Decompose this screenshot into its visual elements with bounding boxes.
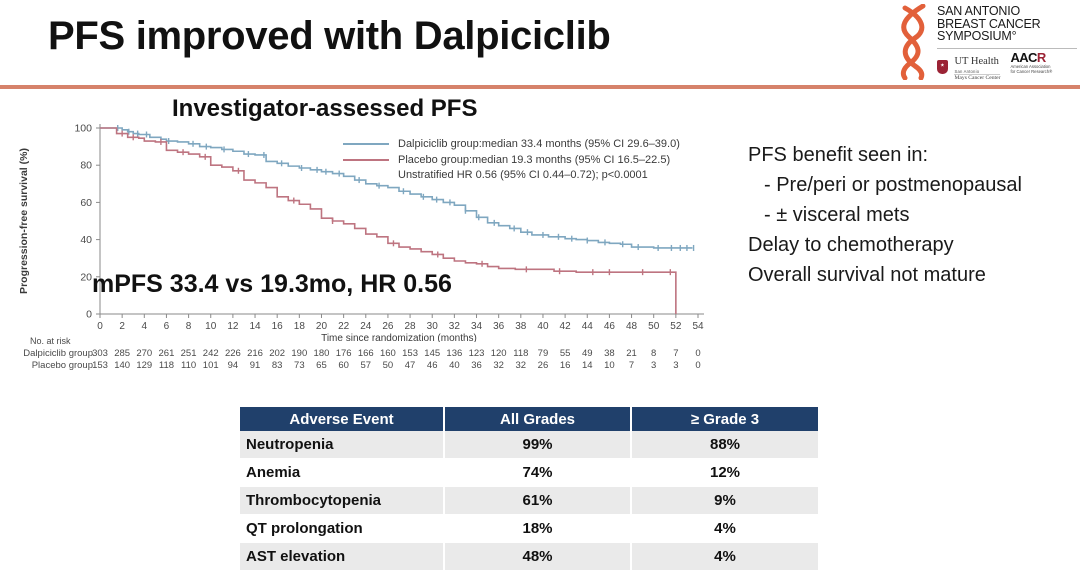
cell-grade3: 9% [631, 487, 818, 515]
risk-value: 216 [247, 348, 263, 359]
risk-value: 129 [136, 360, 152, 371]
risk-value: 60 [338, 360, 349, 371]
risk-row-label: Dalpiciclib group [0, 348, 93, 359]
risk-value: 3 [673, 360, 678, 371]
cell-grade3: 4% [631, 543, 818, 571]
finding-item-1: - Pre/peri or postmenopausal [748, 170, 1080, 200]
risk-value: 261 [159, 348, 175, 359]
cell-event-name: Thrombocytopenia [240, 487, 444, 515]
risk-value: 7 [673, 348, 678, 359]
column-header-all-grades: All Grades [444, 407, 631, 431]
x-tick-label: 54 [692, 321, 704, 332]
cell-all-grades: 61% [444, 487, 631, 515]
x-tick-label: 48 [626, 321, 638, 332]
table-row: QT prolongation18%4% [240, 515, 818, 543]
risk-value: 21 [626, 348, 637, 359]
cell-all-grades: 48% [444, 543, 631, 571]
y-tick-label: 0 [86, 309, 92, 321]
sabcs-logo: SAN ANTONIO BREAST CANCER SYMPOSIUM° UT … [893, 2, 1075, 84]
risk-value: 101 [203, 360, 219, 371]
table-row: Thrombocytopenia61%9% [240, 487, 818, 515]
risk-row: Dalpiciclib group30328527026125124222621… [0, 348, 720, 360]
x-tick-label: 26 [382, 321, 394, 332]
x-tick-label: 34 [471, 321, 483, 332]
risk-value: 83 [272, 360, 283, 371]
aacr-label: AAC [1010, 50, 1036, 65]
ut-health-logo: UT Health San Antonio Mays Cancer Center [937, 51, 1000, 87]
finding-item-2: - ± visceral mets [748, 200, 1080, 230]
partner-logos: UT Health San Antonio Mays Cancer Center… [937, 48, 1077, 87]
x-tick-label: 20 [316, 321, 328, 332]
hazard-ratio-note: Unstratified HR 0.56 (95% CI 0.44–0.72);… [343, 169, 723, 181]
column-header-grade-3: ≥ Grade 3 [631, 407, 818, 431]
risk-value: 47 [405, 360, 416, 371]
cell-all-grades: 74% [444, 459, 631, 487]
risk-value: 50 [383, 360, 394, 371]
risk-value: 65 [316, 360, 327, 371]
aacr-r-letter: R [1037, 50, 1046, 65]
x-tick-label: 32 [449, 321, 461, 332]
risk-value: 118 [513, 348, 528, 359]
x-tick-label: 4 [142, 321, 148, 332]
slide-header: PFS improved with Dalpiciclib SAN ANTONI… [0, 0, 1080, 88]
cell-grade3: 4% [631, 515, 818, 543]
logo-line-1: SAN ANTONIO [937, 5, 1077, 18]
risk-value: 46 [427, 360, 438, 371]
risk-value: 7 [629, 360, 634, 371]
risk-value: 91 [250, 360, 261, 371]
y-tick-label: 60 [80, 197, 92, 209]
risk-value: 49 [582, 348, 593, 359]
legend-item-placebo: Placebo group:median 19.3 months (95% CI… [343, 152, 723, 168]
x-tick-label: 18 [294, 321, 306, 332]
x-tick-label: 6 [164, 321, 170, 332]
x-tick-label: 38 [515, 321, 527, 332]
cell-all-grades: 18% [444, 515, 631, 543]
x-tick-label: 30 [427, 321, 439, 332]
risk-value: 40 [449, 360, 460, 371]
legend-item-dalpiciclib: Dalpiciclib group:median 33.4 months (95… [343, 136, 723, 152]
risk-value: 16 [560, 360, 571, 371]
x-tick-label: 12 [227, 321, 239, 332]
x-axis-title: Time since randomization (months) [321, 333, 477, 342]
ribbon-icon [893, 4, 935, 80]
table-row: Neutropenia99%88% [240, 431, 818, 459]
risk-value: 14 [582, 360, 593, 371]
risk-value: 123 [469, 348, 485, 359]
risk-row-values: 1531401291181101019491837365605750474640… [93, 360, 713, 372]
y-tick-label: 20 [80, 271, 92, 283]
risk-value: 118 [159, 360, 174, 371]
x-tick-label: 24 [360, 321, 372, 332]
numbers-at-risk-title: No. at risk [30, 336, 71, 346]
risk-value: 166 [358, 348, 374, 359]
x-tick-label: 42 [560, 321, 572, 332]
risk-value: 55 [560, 348, 571, 359]
x-tick-label: 44 [582, 321, 594, 332]
logo-line-3: SYMPOSIUM° [937, 30, 1077, 43]
y-tick-label: 40 [80, 234, 92, 246]
risk-value: 38 [604, 348, 615, 359]
x-tick-label: 36 [493, 321, 505, 332]
risk-value: 180 [314, 348, 330, 359]
shield-icon [937, 60, 948, 74]
y-tick-label: 80 [80, 160, 92, 172]
risk-value: 226 [225, 348, 241, 359]
x-tick-label: 52 [670, 321, 682, 332]
km-chart-panel: Investigator-assessed PFS 020406080100Pr… [0, 92, 730, 382]
finding-item-3: Delay to chemotherapy [748, 230, 1080, 260]
risk-value: 10 [604, 360, 615, 371]
risk-value: 57 [360, 360, 371, 371]
x-tick-label: 28 [405, 321, 417, 332]
cell-event-name: AST elevation [240, 543, 444, 571]
risk-value: 8 [651, 348, 656, 359]
risk-value: 79 [538, 348, 549, 359]
risk-value: 0 [695, 360, 700, 371]
mays-cancer-center-label: Mays Cancer Center [954, 74, 1000, 82]
x-tick-label: 46 [604, 321, 616, 332]
risk-value: 110 [181, 360, 196, 371]
risk-value: 190 [291, 348, 307, 359]
cell-event-name: QT prolongation [240, 515, 444, 543]
legend-label-dalpiciclib: Dalpiciclib group:median 33.4 months (95… [398, 138, 680, 150]
chart-legend: Dalpiciclib group:median 33.4 months (95… [343, 136, 723, 181]
risk-value: 73 [294, 360, 305, 371]
cell-event-name: Anemia [240, 459, 444, 487]
x-tick-label: 2 [119, 321, 125, 332]
key-findings-list: PFS benefit seen in:- Pre/peri or postme… [748, 140, 1080, 290]
x-tick-label: 50 [648, 321, 660, 332]
cell-grade3: 88% [631, 431, 818, 459]
risk-value: 32 [493, 360, 504, 371]
risk-value: 202 [269, 348, 285, 359]
risk-value: 285 [114, 348, 130, 359]
risk-row: Placebo group153140129118110101949183736… [0, 360, 720, 372]
finding-item-4: Overall survival not mature [748, 260, 1080, 290]
aacr-logo: AACR American Association for Cancer Res… [1010, 51, 1052, 87]
adverse-event-table: Adverse Event All Grades ≥ Grade 3 Neutr… [240, 407, 818, 571]
ut-health-label: UT Health [954, 56, 998, 67]
finding-item-0: PFS benefit seen in: [748, 140, 1080, 170]
x-tick-label: 16 [272, 321, 284, 332]
table-row: AST elevation48%4% [240, 543, 818, 571]
risk-value: 32 [516, 360, 527, 371]
y-axis-title: Progression-free survival (%) [18, 148, 30, 294]
risk-value: 303 [92, 348, 108, 359]
risk-value: 140 [114, 360, 130, 371]
column-header-adverse-event: Adverse Event [240, 407, 444, 431]
cell-event-name: Neutropenia [240, 431, 444, 459]
risk-value: 270 [136, 348, 152, 359]
risk-value: 94 [228, 360, 239, 371]
x-tick-label: 0 [97, 321, 103, 332]
x-tick-label: 14 [249, 321, 261, 332]
risk-value: 153 [402, 348, 418, 359]
km-plot: 020406080100Progression-free survival (%… [0, 92, 730, 342]
risk-value: 26 [538, 360, 549, 371]
risk-value: 0 [695, 348, 700, 359]
legend-swatch-placebo [343, 159, 389, 161]
legend-swatch-dalpiciclib [343, 143, 389, 145]
risk-value: 242 [203, 348, 219, 359]
x-tick-label: 8 [186, 321, 192, 332]
header-divider [0, 85, 1080, 89]
risk-value: 153 [92, 360, 108, 371]
y-tick-label: 100 [74, 123, 92, 135]
risk-value: 3 [651, 360, 656, 371]
x-tick-label: 10 [205, 321, 217, 332]
logo-wordmark: SAN ANTONIO BREAST CANCER SYMPOSIUM° [937, 5, 1077, 43]
page-title: PFS improved with Dalpiciclib [48, 14, 611, 59]
table-row: Anemia74%12% [240, 459, 818, 487]
cell-grade3: 12% [631, 459, 818, 487]
risk-value: 251 [181, 348, 197, 359]
risk-row-label: Placebo group [0, 360, 93, 371]
mpfs-callout: mPFS 33.4 vs 19.3mo, HR 0.56 [92, 270, 452, 299]
risk-value: 145 [424, 348, 440, 359]
risk-value: 36 [471, 360, 482, 371]
cell-all-grades: 99% [444, 431, 631, 459]
legend-label-placebo: Placebo group:median 19.3 months (95% CI… [398, 154, 670, 166]
risk-value: 176 [336, 348, 352, 359]
x-tick-label: 40 [537, 321, 549, 332]
risk-value: 120 [491, 348, 507, 359]
aacr-sub-2: for Cancer Research® [1010, 69, 1052, 74]
x-tick-label: 22 [338, 321, 350, 332]
risk-value: 136 [446, 348, 462, 359]
risk-value: 160 [380, 348, 396, 359]
risk-row-values: 3032852702612512422262162021901801761661… [93, 348, 713, 360]
table-header-row: Adverse Event All Grades ≥ Grade 3 [240, 407, 818, 431]
